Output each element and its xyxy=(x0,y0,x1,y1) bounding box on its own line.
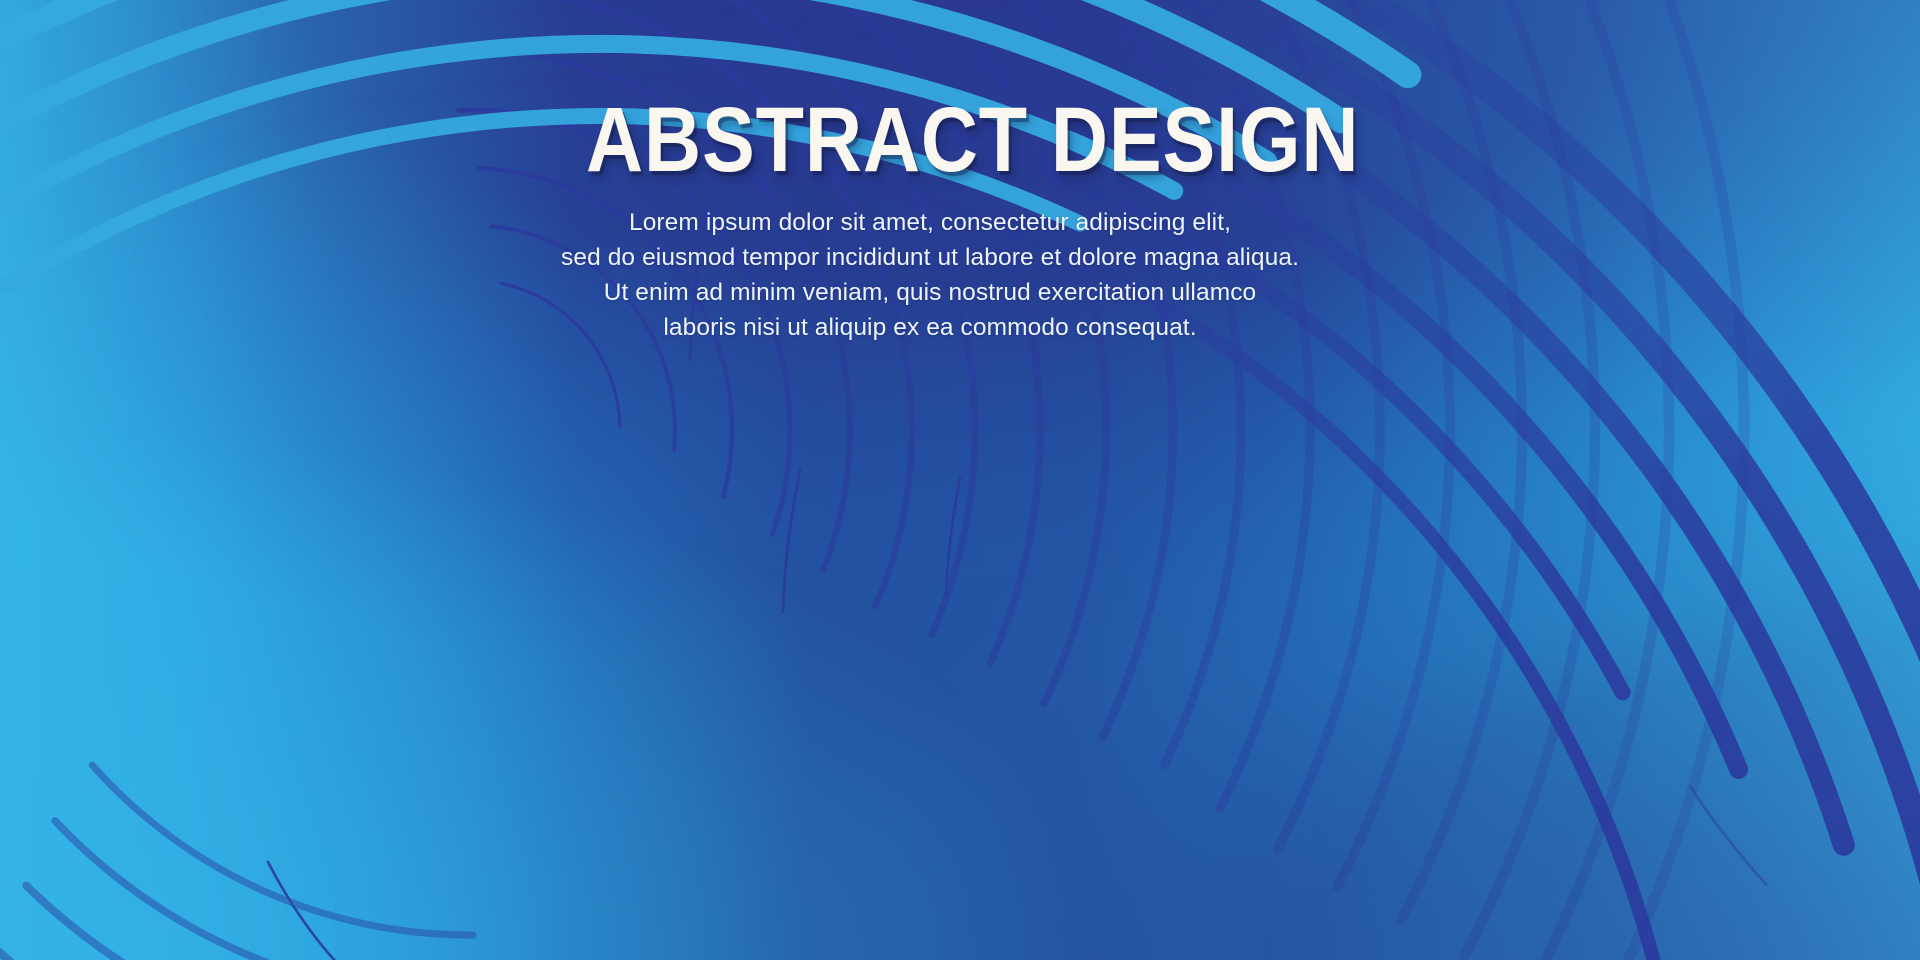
body-line-3: Ut enim ad minim veniam, quis nostrud ex… xyxy=(530,276,1330,311)
body-line-1: Lorem ipsum dolor sit amet, consectetur … xyxy=(530,206,1330,241)
body-line-4: laboris nisi ut aliquip ex ea commodo co… xyxy=(530,311,1330,346)
body-paragraph: Lorem ipsum dolor sit amet, consectetur … xyxy=(530,206,1330,345)
page-title: ABSTRACT DESIGN xyxy=(586,96,1274,184)
abstract-design-banner: ABSTRACT DESIGN Lorem ipsum dolor sit am… xyxy=(0,0,1920,960)
body-line-2: sed do eiusmod tempor incididunt ut labo… xyxy=(530,241,1330,276)
hero-text-block: ABSTRACT DESIGN Lorem ipsum dolor sit am… xyxy=(530,96,1330,345)
